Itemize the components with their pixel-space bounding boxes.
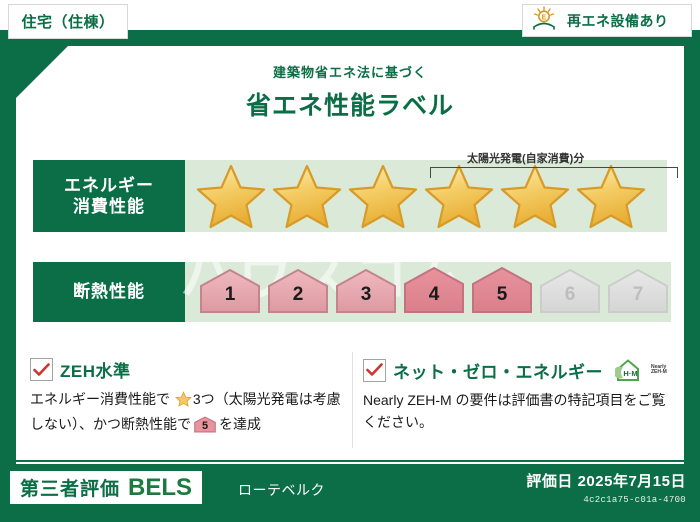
house-label-5: 5 bbox=[469, 284, 535, 306]
evaluation-id: 4c2c1a75-c01a-4700 bbox=[526, 495, 686, 505]
bels-badge: 第三者評価 BELS bbox=[10, 471, 202, 504]
svg-text:H·M: H·M bbox=[623, 369, 637, 378]
note-body-part3: を達成 bbox=[219, 416, 261, 432]
energy-row-label-line1: エネルギー bbox=[64, 175, 154, 196]
page-title: 省エネ性能ラベル bbox=[16, 86, 684, 122]
inline-house-icon: 5 bbox=[193, 416, 217, 433]
energy-performance-label: 住宅（住棟） E 再エネ設備あり 建築物省エネ法に基づく 省エネ性能ラベ bbox=[0, 0, 700, 522]
house-label-7: 7 bbox=[605, 284, 671, 306]
footer-bar: 第三者評価 BELS ローテベルク 評価日 2025年7月15日 4c2c1a7… bbox=[0, 462, 700, 522]
renewable-energy-badge: E 再エネ設備あり bbox=[522, 4, 692, 37]
house-icon-4: 4 bbox=[401, 266, 467, 318]
category-chip: 住宅（住棟） bbox=[8, 4, 128, 39]
house-icon-6: 6 bbox=[537, 266, 603, 318]
house-label-2: 2 bbox=[265, 284, 331, 306]
note-net-zero-body: Nearly ZEH-M の要件は評価書の特記項目をご覧ください。 bbox=[363, 390, 673, 433]
svg-text:E: E bbox=[542, 14, 547, 21]
house-icon-5: 5 bbox=[469, 266, 535, 318]
note-zeh-standard: ZEH水準 エネルギー消費性能で 3つ（太陽光発電は考慮しない）、かつ断熱性能で… bbox=[30, 357, 350, 435]
note-body-part1: エネルギー消費性能で bbox=[30, 391, 170, 407]
bels-badge-en: BELS bbox=[128, 474, 192, 502]
energy-row-label-line2: 消費性能 bbox=[73, 196, 145, 217]
house-label-3: 3 bbox=[333, 284, 399, 306]
house-icon-2: 2 bbox=[265, 266, 331, 318]
insulation-performance-row: 断熱性能 1 bbox=[33, 262, 667, 322]
evaluation-date: 評価日 2025年7月15日 bbox=[526, 470, 686, 491]
checkbox-checked-icon bbox=[30, 358, 53, 381]
energy-row-label: エネルギー 消費性能 bbox=[33, 160, 185, 232]
solar-annotation-bracket bbox=[430, 167, 678, 178]
page-heading: 建築物省エネ法に基づく 省エネ性能ラベル bbox=[16, 62, 684, 122]
note-body-star-count: 3つ（太陽光発電 bbox=[193, 391, 299, 407]
zeh-m-logo-caption: Nearly ZEH-M bbox=[651, 365, 667, 376]
insulation-row-label-text: 断熱性能 bbox=[73, 281, 145, 302]
house-icon-7: 7 bbox=[605, 266, 671, 318]
inline-star-icon bbox=[171, 394, 192, 410]
star-icon-1 bbox=[195, 161, 267, 231]
note-net-zero-energy: ネット・ゼロ・エネルギー H·M Nearly ZEH-M Nearly ZEH… bbox=[363, 357, 673, 433]
solar-sun-icon: E bbox=[531, 5, 561, 36]
notes-divider bbox=[352, 352, 353, 448]
heading-subtitle: 建築物省エネ法に基づく bbox=[16, 62, 684, 81]
bels-badge-jp: 第三者評価 bbox=[20, 474, 120, 501]
solar-annotation-label: 太陽光発電(自家消費)分 bbox=[467, 150, 584, 166]
insulation-scale: 1 2 3 4 bbox=[185, 266, 671, 318]
company-name: ローテベルク bbox=[238, 480, 325, 500]
house-label-6: 6 bbox=[537, 284, 603, 306]
renewable-badge-label: 再エネ設備あり bbox=[567, 11, 669, 31]
house-label-1: 1 bbox=[197, 284, 263, 306]
house-icon-1: 1 bbox=[197, 266, 263, 318]
footer-top-rule bbox=[16, 462, 684, 464]
house-label-4: 4 bbox=[401, 284, 467, 306]
category-chip-label: 住宅（住棟） bbox=[21, 11, 114, 32]
note-zeh-standard-body: エネルギー消費性能で 3つ（太陽光発電は考慮しない）、かつ断熱性能で 5 を達成 bbox=[30, 389, 350, 435]
star-icon-3 bbox=[347, 161, 419, 231]
note-zeh-standard-header: ZEH水準 bbox=[30, 357, 350, 382]
insulation-row-value: 1 2 3 4 bbox=[185, 262, 671, 322]
zeh-m-caption-line2: ZEH-M bbox=[651, 369, 667, 375]
note-net-zero-header: ネット・ゼロ・エネルギー H·M Nearly ZEH-M bbox=[363, 357, 673, 383]
zeh-m-logo: H·M Nearly ZEH-M bbox=[615, 357, 667, 383]
inline-house-label: 5 bbox=[193, 418, 217, 435]
note-net-zero-title: ネット・ゼロ・エネルギー bbox=[393, 358, 603, 383]
footer-meta: 評価日 2025年7月15日 4c2c1a75-c01a-4700 bbox=[526, 470, 686, 505]
note-zeh-standard-title: ZEH水準 bbox=[60, 357, 131, 382]
insulation-row-label: 断熱性能 bbox=[33, 262, 185, 322]
checkbox-checked-icon-2 bbox=[363, 359, 386, 382]
star-icon-2 bbox=[271, 161, 343, 231]
house-icon-3: 3 bbox=[333, 266, 399, 318]
